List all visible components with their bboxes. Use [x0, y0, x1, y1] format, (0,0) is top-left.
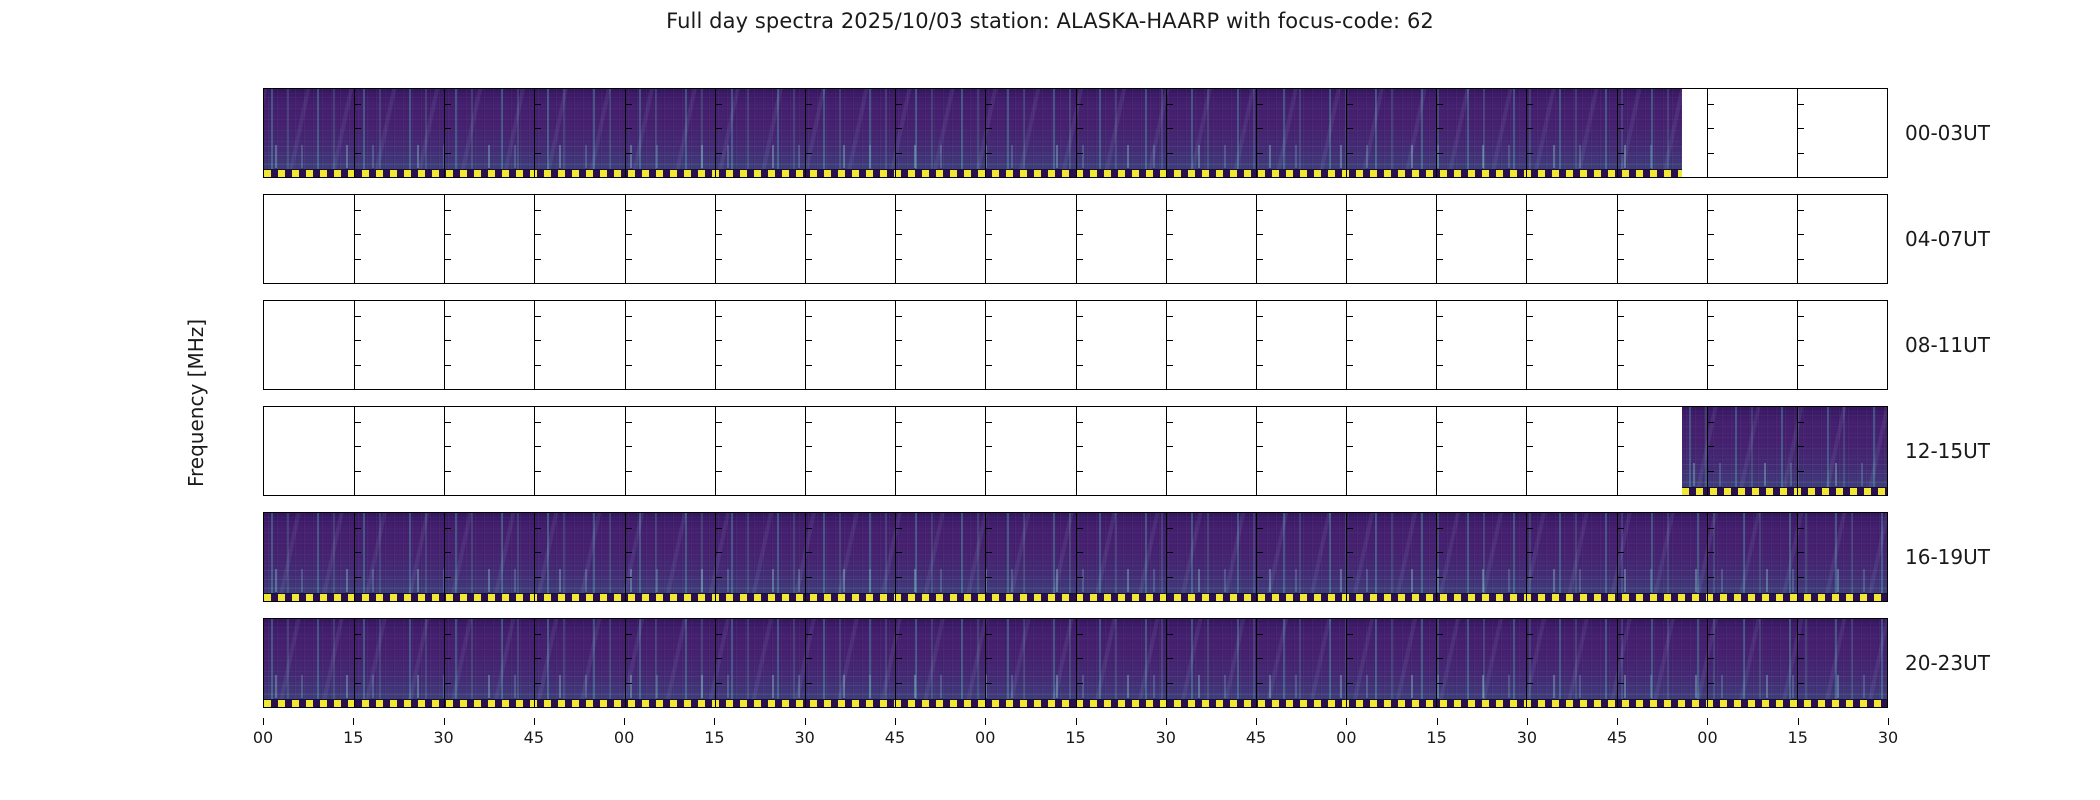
- grid-tick-mark: [1707, 446, 1714, 447]
- panel-gridline: [1256, 619, 1257, 707]
- grid-tick-mark: [354, 528, 361, 529]
- grid-tick-mark: [1797, 446, 1804, 447]
- panel-gridline: [354, 407, 355, 495]
- grid-tick-mark: [715, 446, 722, 447]
- grid-tick-mark: [1526, 422, 1533, 423]
- grid-tick-mark: [1436, 528, 1443, 529]
- panel-gridline: [715, 619, 716, 707]
- grid-tick-mark: [1617, 259, 1624, 260]
- grid-tick-mark: [895, 316, 902, 317]
- panel-gridline: [715, 89, 716, 177]
- x-tick-mark: [263, 718, 264, 725]
- grid-tick-mark: [985, 446, 992, 447]
- grid-tick-mark: [1346, 471, 1353, 472]
- panel-gridline: [1797, 619, 1798, 707]
- y-tick-mark: [263, 316, 264, 317]
- grid-tick-mark: [895, 128, 902, 129]
- grid-tick-mark: [534, 128, 541, 129]
- grid-tick-mark: [1346, 316, 1353, 317]
- panel-gridline: [1617, 513, 1618, 601]
- grid-tick-mark: [1166, 683, 1173, 684]
- grid-tick-mark: [805, 471, 812, 472]
- grid-tick-mark: [1436, 104, 1443, 105]
- panel-gridline: [895, 513, 896, 601]
- grid-tick-mark: [1617, 577, 1624, 578]
- grid-tick-mark: [895, 446, 902, 447]
- baseline-dash-strip: [1682, 487, 1887, 495]
- grid-tick-mark: [1346, 210, 1353, 211]
- panel-gridline: [1346, 301, 1347, 389]
- panel-gridline: [985, 619, 986, 707]
- y-axis-label: Frequency [MHz]: [184, 319, 208, 487]
- grid-tick-mark: [534, 528, 541, 529]
- panel-gridline: [1076, 513, 1077, 601]
- panel-gridline: [1256, 513, 1257, 601]
- grid-tick-mark: [1797, 634, 1804, 635]
- grid-tick-mark: [1526, 658, 1533, 659]
- grid-tick-mark: [985, 234, 992, 235]
- grid-tick-mark: [985, 340, 992, 341]
- grid-tick-mark: [1617, 104, 1624, 105]
- grid-tick-mark: [625, 365, 632, 366]
- grid-tick-mark: [1166, 128, 1173, 129]
- x-tick-mark: [1707, 718, 1708, 725]
- y-tick-mark: [263, 259, 264, 260]
- x-tick-label: 00: [1697, 728, 1717, 747]
- grid-tick-mark: [1166, 153, 1173, 154]
- grid-tick-mark: [1526, 471, 1533, 472]
- grid-tick-mark: [985, 316, 992, 317]
- grid-tick-mark: [1166, 552, 1173, 553]
- panel-gridline: [1166, 301, 1167, 389]
- grid-tick-mark: [1797, 104, 1804, 105]
- spectrogram-row-12-15ut[interactable]: 755025: [263, 406, 1888, 496]
- grid-tick-mark: [1707, 316, 1714, 317]
- grid-tick-mark: [985, 528, 992, 529]
- grid-tick-mark: [805, 552, 812, 553]
- grid-tick-mark: [1526, 683, 1533, 684]
- y-tick-mark: [263, 471, 264, 472]
- grid-tick-mark: [1256, 259, 1263, 260]
- row-label-20-23ut: 20-23UT: [1905, 651, 1990, 675]
- grid-tick-mark: [1076, 552, 1083, 553]
- panel-gridline: [444, 301, 445, 389]
- x-tick-mark: [624, 718, 625, 725]
- grid-tick-mark: [534, 552, 541, 553]
- grid-tick-mark: [1707, 683, 1714, 684]
- panel-gridline: [534, 89, 535, 177]
- panel-gridline: [805, 407, 806, 495]
- grid-tick-mark: [805, 153, 812, 154]
- grid-tick-mark: [1256, 658, 1263, 659]
- grid-tick-mark: [1707, 259, 1714, 260]
- spectrogram-row-08-11ut[interactable]: 755025: [263, 300, 1888, 390]
- grid-tick-mark: [1797, 128, 1804, 129]
- spectrogram-row-00-03ut[interactable]: 755025: [263, 88, 1888, 178]
- grid-tick-mark: [805, 577, 812, 578]
- grid-tick-mark: [1166, 365, 1173, 366]
- grid-tick-mark: [1076, 471, 1083, 472]
- grid-tick-mark: [1797, 528, 1804, 529]
- grid-tick-mark: [1617, 446, 1624, 447]
- grid-tick-mark: [805, 634, 812, 635]
- grid-tick-mark: [805, 528, 812, 529]
- grid-tick-mark: [1797, 552, 1804, 553]
- panel-gridline: [1526, 195, 1527, 283]
- grid-tick-mark: [1436, 658, 1443, 659]
- y-tick-mark: [263, 422, 264, 423]
- grid-tick-mark: [715, 528, 722, 529]
- grid-tick-mark: [1346, 658, 1353, 659]
- spectrogram-row-04-07ut[interactable]: 755025: [263, 194, 1888, 284]
- panel-gridline: [1797, 407, 1798, 495]
- panel-gridline: [354, 619, 355, 707]
- grid-tick-mark: [1617, 683, 1624, 684]
- x-tick-label: 00: [614, 728, 634, 747]
- grid-tick-mark: [1707, 128, 1714, 129]
- grid-tick-mark: [1617, 340, 1624, 341]
- x-tick-label: 15: [704, 728, 724, 747]
- panel-gridline: [1707, 195, 1708, 283]
- panel-gridline: [1166, 513, 1167, 601]
- x-tick-mark: [1888, 718, 1889, 725]
- panel-gridline: [1256, 301, 1257, 389]
- grid-tick-mark: [1797, 340, 1804, 341]
- grid-tick-mark: [1617, 316, 1624, 317]
- x-tick-mark: [1256, 718, 1257, 725]
- panel-gridline: [1526, 513, 1527, 601]
- grid-tick-mark: [1346, 422, 1353, 423]
- grid-tick-mark: [895, 422, 902, 423]
- grid-tick-mark: [1256, 471, 1263, 472]
- grid-tick-mark: [1166, 259, 1173, 260]
- panel-gridline: [1707, 407, 1708, 495]
- grid-tick-mark: [534, 422, 541, 423]
- grid-tick-mark: [1797, 683, 1804, 684]
- grid-tick-mark: [895, 210, 902, 211]
- x-tick-mark: [1346, 718, 1347, 725]
- grid-tick-mark: [625, 528, 632, 529]
- x-tick-mark: [1076, 718, 1077, 725]
- grid-tick-mark: [1436, 471, 1443, 472]
- grid-tick-mark: [1076, 634, 1083, 635]
- panel-gridline: [1076, 407, 1077, 495]
- panel-gridline: [1707, 301, 1708, 389]
- panel-gridline: [1436, 195, 1437, 283]
- grid-tick-mark: [1346, 153, 1353, 154]
- grid-tick-mark: [1526, 128, 1533, 129]
- panel-gridline: [354, 89, 355, 177]
- grid-tick-mark: [1797, 316, 1804, 317]
- grid-tick-mark: [1346, 259, 1353, 260]
- x-tick-label: 45: [1607, 728, 1627, 747]
- grid-tick-mark: [1436, 153, 1443, 154]
- x-tick-mark: [534, 718, 535, 725]
- grid-tick-mark: [1166, 446, 1173, 447]
- panel-gridline: [985, 195, 986, 283]
- panel-gridline: [444, 89, 445, 177]
- panel-gridline: [354, 195, 355, 283]
- grid-tick-mark: [1617, 471, 1624, 472]
- y-tick-mark: [263, 528, 264, 529]
- panel-gridline: [534, 513, 535, 601]
- grid-tick-mark: [444, 683, 451, 684]
- grid-tick-mark: [1526, 340, 1533, 341]
- panel-gridline: [1797, 513, 1798, 601]
- grid-tick-mark: [1436, 446, 1443, 447]
- panel-gridline: [715, 301, 716, 389]
- grid-tick-mark: [1076, 365, 1083, 366]
- panel-gridline: [895, 89, 896, 177]
- grid-tick-mark: [1256, 316, 1263, 317]
- grid-tick-mark: [354, 577, 361, 578]
- grid-tick-mark: [534, 153, 541, 154]
- grid-tick-mark: [1797, 577, 1804, 578]
- panel-gridline: [444, 513, 445, 601]
- panel-gridline: [1076, 89, 1077, 177]
- grid-tick-mark: [534, 210, 541, 211]
- grid-tick-mark: [1256, 153, 1263, 154]
- panel-gridline: [1707, 513, 1708, 601]
- grid-tick-mark: [715, 552, 722, 553]
- grid-tick-mark: [1436, 259, 1443, 260]
- grid-tick-mark: [1076, 658, 1083, 659]
- panel-gridline: [1436, 619, 1437, 707]
- panel-gridline: [895, 301, 896, 389]
- grid-tick-mark: [805, 340, 812, 341]
- x-tick-label: 00: [253, 728, 273, 747]
- row-label-12-15ut: 12-15UT: [1905, 439, 1990, 463]
- spectrogram-figure: Full day spectra 2025/10/03 station: ALA…: [0, 0, 2100, 800]
- x-tick-mark: [895, 718, 896, 725]
- grid-tick-mark: [895, 634, 902, 635]
- grid-tick-mark: [1617, 153, 1624, 154]
- grid-tick-mark: [1707, 153, 1714, 154]
- grid-tick-mark: [1797, 422, 1804, 423]
- grid-tick-mark: [1256, 365, 1263, 366]
- grid-tick-mark: [895, 153, 902, 154]
- grid-tick-mark: [625, 634, 632, 635]
- panel-gridline: [534, 619, 535, 707]
- panel-gridline: [1256, 195, 1257, 283]
- grid-tick-mark: [625, 577, 632, 578]
- grid-tick-mark: [444, 577, 451, 578]
- grid-tick-mark: [1166, 658, 1173, 659]
- x-tick-label: 45: [524, 728, 544, 747]
- grid-tick-mark: [444, 422, 451, 423]
- panel-gridline: [1346, 89, 1347, 177]
- x-tick-mark: [1617, 718, 1618, 725]
- grid-tick-mark: [1256, 577, 1263, 578]
- spectrogram-row-20-23ut[interactable]: 755025: [263, 618, 1888, 708]
- x-tick-mark: [805, 718, 806, 725]
- grid-tick-mark: [1436, 340, 1443, 341]
- grid-tick-mark: [625, 104, 632, 105]
- row-label-16-19ut: 16-19UT: [1905, 545, 1990, 569]
- panel-gridline: [1707, 89, 1708, 177]
- grid-tick-mark: [1076, 316, 1083, 317]
- grid-tick-mark: [1797, 153, 1804, 154]
- grid-tick-mark: [1076, 210, 1083, 211]
- grid-tick-mark: [805, 422, 812, 423]
- grid-tick-mark: [1256, 528, 1263, 529]
- x-tick-label: 45: [885, 728, 905, 747]
- grid-tick-mark: [715, 259, 722, 260]
- grid-tick-mark: [354, 471, 361, 472]
- grid-tick-mark: [354, 153, 361, 154]
- grid-tick-mark: [1707, 528, 1714, 529]
- grid-tick-mark: [1166, 471, 1173, 472]
- grid-tick-mark: [444, 658, 451, 659]
- grid-tick-mark: [985, 422, 992, 423]
- grid-tick-mark: [1526, 577, 1533, 578]
- panel-gridline: [1526, 619, 1527, 707]
- grid-tick-mark: [534, 658, 541, 659]
- panel-gridline: [1346, 513, 1347, 601]
- grid-tick-mark: [1617, 365, 1624, 366]
- grid-tick-mark: [1076, 422, 1083, 423]
- grid-tick-mark: [715, 210, 722, 211]
- grid-tick-mark: [444, 365, 451, 366]
- grid-tick-mark: [354, 104, 361, 105]
- y-tick-mark: [263, 234, 264, 235]
- grid-tick-mark: [534, 234, 541, 235]
- panel-gridline: [985, 513, 986, 601]
- grid-tick-mark: [1166, 210, 1173, 211]
- x-tick-label: 30: [433, 728, 453, 747]
- grid-tick-mark: [625, 683, 632, 684]
- grid-tick-mark: [1166, 316, 1173, 317]
- grid-tick-mark: [1346, 577, 1353, 578]
- grid-tick-mark: [1346, 340, 1353, 341]
- panel-gridline: [985, 89, 986, 177]
- grid-tick-mark: [1436, 210, 1443, 211]
- grid-tick-mark: [1166, 422, 1173, 423]
- grid-tick-mark: [354, 259, 361, 260]
- panel-gridline: [1617, 89, 1618, 177]
- grid-tick-mark: [1617, 658, 1624, 659]
- panel-gridline: [1436, 301, 1437, 389]
- grid-tick-mark: [1526, 210, 1533, 211]
- y-tick-mark: [263, 634, 264, 635]
- grid-tick-mark: [444, 446, 451, 447]
- grid-tick-mark: [1526, 153, 1533, 154]
- panel-gridline: [625, 89, 626, 177]
- grid-tick-mark: [534, 683, 541, 684]
- grid-tick-mark: [1707, 104, 1714, 105]
- grid-tick-mark: [985, 658, 992, 659]
- panel-gridline: [805, 195, 806, 283]
- grid-tick-mark: [1166, 234, 1173, 235]
- grid-tick-mark: [444, 316, 451, 317]
- panel-gridline: [1617, 407, 1618, 495]
- grid-tick-mark: [1076, 234, 1083, 235]
- grid-tick-mark: [895, 471, 902, 472]
- grid-tick-mark: [1707, 552, 1714, 553]
- grid-tick-mark: [1617, 422, 1624, 423]
- panel-gridline: [1166, 89, 1167, 177]
- grid-tick-mark: [625, 128, 632, 129]
- grid-tick-mark: [895, 552, 902, 553]
- grid-tick-mark: [715, 634, 722, 635]
- grid-tick-mark: [1436, 634, 1443, 635]
- grid-tick-mark: [354, 316, 361, 317]
- panel-gridline: [625, 301, 626, 389]
- grid-tick-mark: [1436, 234, 1443, 235]
- grid-tick-mark: [1256, 683, 1263, 684]
- grid-tick-mark: [1526, 365, 1533, 366]
- x-tick-label: 00: [975, 728, 995, 747]
- grid-tick-mark: [354, 340, 361, 341]
- grid-tick-mark: [1707, 210, 1714, 211]
- panel-gridline: [625, 619, 626, 707]
- grid-tick-mark: [715, 683, 722, 684]
- panel-gridline: [715, 195, 716, 283]
- grid-tick-mark: [805, 446, 812, 447]
- grid-tick-mark: [1166, 340, 1173, 341]
- panel-gridline: [1256, 407, 1257, 495]
- grid-tick-mark: [985, 153, 992, 154]
- panel-gridline: [534, 301, 535, 389]
- grid-tick-mark: [1076, 528, 1083, 529]
- grid-tick-mark: [444, 153, 451, 154]
- grid-tick-mark: [1256, 104, 1263, 105]
- y-tick-mark: [263, 210, 264, 211]
- grid-tick-mark: [444, 104, 451, 105]
- x-tick-mark: [1437, 718, 1438, 725]
- row-label-08-11ut: 08-11UT: [1905, 333, 1990, 357]
- grid-tick-mark: [715, 658, 722, 659]
- grid-tick-mark: [715, 422, 722, 423]
- grid-tick-mark: [625, 210, 632, 211]
- y-tick-mark: [263, 340, 264, 341]
- panel-gridline: [1707, 619, 1708, 707]
- grid-tick-mark: [1256, 234, 1263, 235]
- panel-gridline: [1076, 619, 1077, 707]
- y-tick-mark: [263, 365, 264, 366]
- grid-tick-mark: [444, 259, 451, 260]
- panel-gridline: [625, 195, 626, 283]
- grid-tick-mark: [1797, 259, 1804, 260]
- grid-tick-mark: [1346, 528, 1353, 529]
- x-tick-label: 15: [343, 728, 363, 747]
- grid-tick-mark: [805, 234, 812, 235]
- grid-tick-mark: [1076, 153, 1083, 154]
- panel-gridline: [805, 513, 806, 601]
- y-tick-mark: [263, 446, 264, 447]
- x-tick-mark: [985, 718, 986, 725]
- panel-gridline: [444, 195, 445, 283]
- x-tick-label: 45: [1246, 728, 1266, 747]
- grid-tick-mark: [805, 210, 812, 211]
- grid-tick-mark: [625, 340, 632, 341]
- spectrogram-row-16-19ut[interactable]: 755025: [263, 512, 1888, 602]
- panel-gridline: [715, 513, 716, 601]
- panel-gridline: [354, 513, 355, 601]
- grid-tick-mark: [1256, 210, 1263, 211]
- panel-gridline: [1797, 195, 1798, 283]
- grid-tick-mark: [1707, 471, 1714, 472]
- grid-tick-mark: [625, 552, 632, 553]
- grid-tick-mark: [625, 259, 632, 260]
- grid-tick-mark: [1707, 634, 1714, 635]
- grid-tick-mark: [534, 340, 541, 341]
- grid-tick-mark: [805, 365, 812, 366]
- grid-tick-mark: [715, 104, 722, 105]
- grid-tick-mark: [534, 634, 541, 635]
- y-tick-mark: [263, 658, 264, 659]
- grid-tick-mark: [1076, 128, 1083, 129]
